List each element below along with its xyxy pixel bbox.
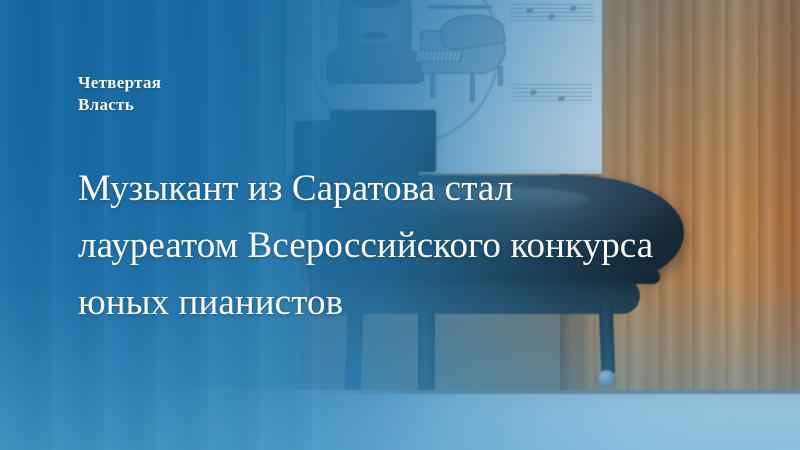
hero-content: Четвертая Власть Музыкант из Саратова ст… <box>0 0 800 450</box>
article-hero-banner: Четвертая Власть Музыкант из Саратова ст… <box>0 0 800 450</box>
site-logo[interactable]: Четвертая Власть <box>78 72 161 116</box>
article-headline: Музыкант из Саратова стал лауреатом Всер… <box>78 160 678 331</box>
